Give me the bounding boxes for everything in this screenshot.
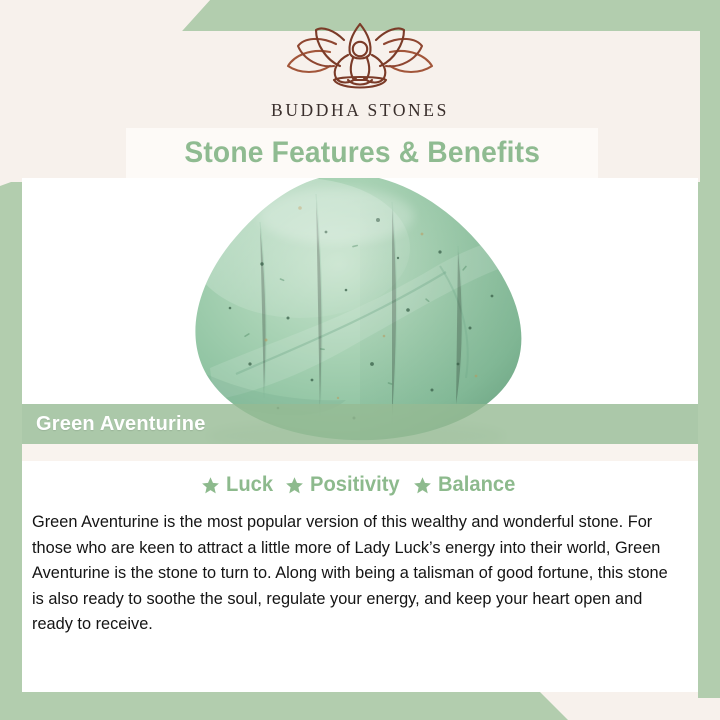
description-section: Luck Positivity Balance Green Aventurine… xyxy=(22,461,698,692)
star-icon xyxy=(285,476,304,495)
brand-name: BUDDHA STONES xyxy=(271,100,449,121)
keyword-item-luck: Luck xyxy=(201,473,275,497)
brand-logo: BUDDHA STONES xyxy=(0,22,720,132)
page-title: Stone Features & Benefits xyxy=(184,136,540,170)
keyword-item-balance: Balance xyxy=(413,473,519,497)
star-icon xyxy=(413,476,432,495)
page-title-panel: Stone Features & Benefits xyxy=(126,128,598,178)
lotus-meditation-icon xyxy=(274,22,446,96)
keyword-label: Positivity xyxy=(310,473,400,497)
frame-left-green-bar xyxy=(0,178,22,720)
keyword-list: Luck Positivity Balance xyxy=(22,465,698,505)
section-divider xyxy=(22,444,698,461)
stone-name-label: Green Aventurine xyxy=(36,413,206,436)
keyword-label: Balance xyxy=(438,473,515,497)
description-paragraph: Green Aventurine is the most popular ver… xyxy=(32,509,678,637)
keyword-item-positivity: Positivity xyxy=(285,473,403,497)
keyword-label: Luck xyxy=(226,473,273,497)
stone-name-bar: Green Aventurine xyxy=(22,404,698,444)
star-icon xyxy=(201,476,220,495)
